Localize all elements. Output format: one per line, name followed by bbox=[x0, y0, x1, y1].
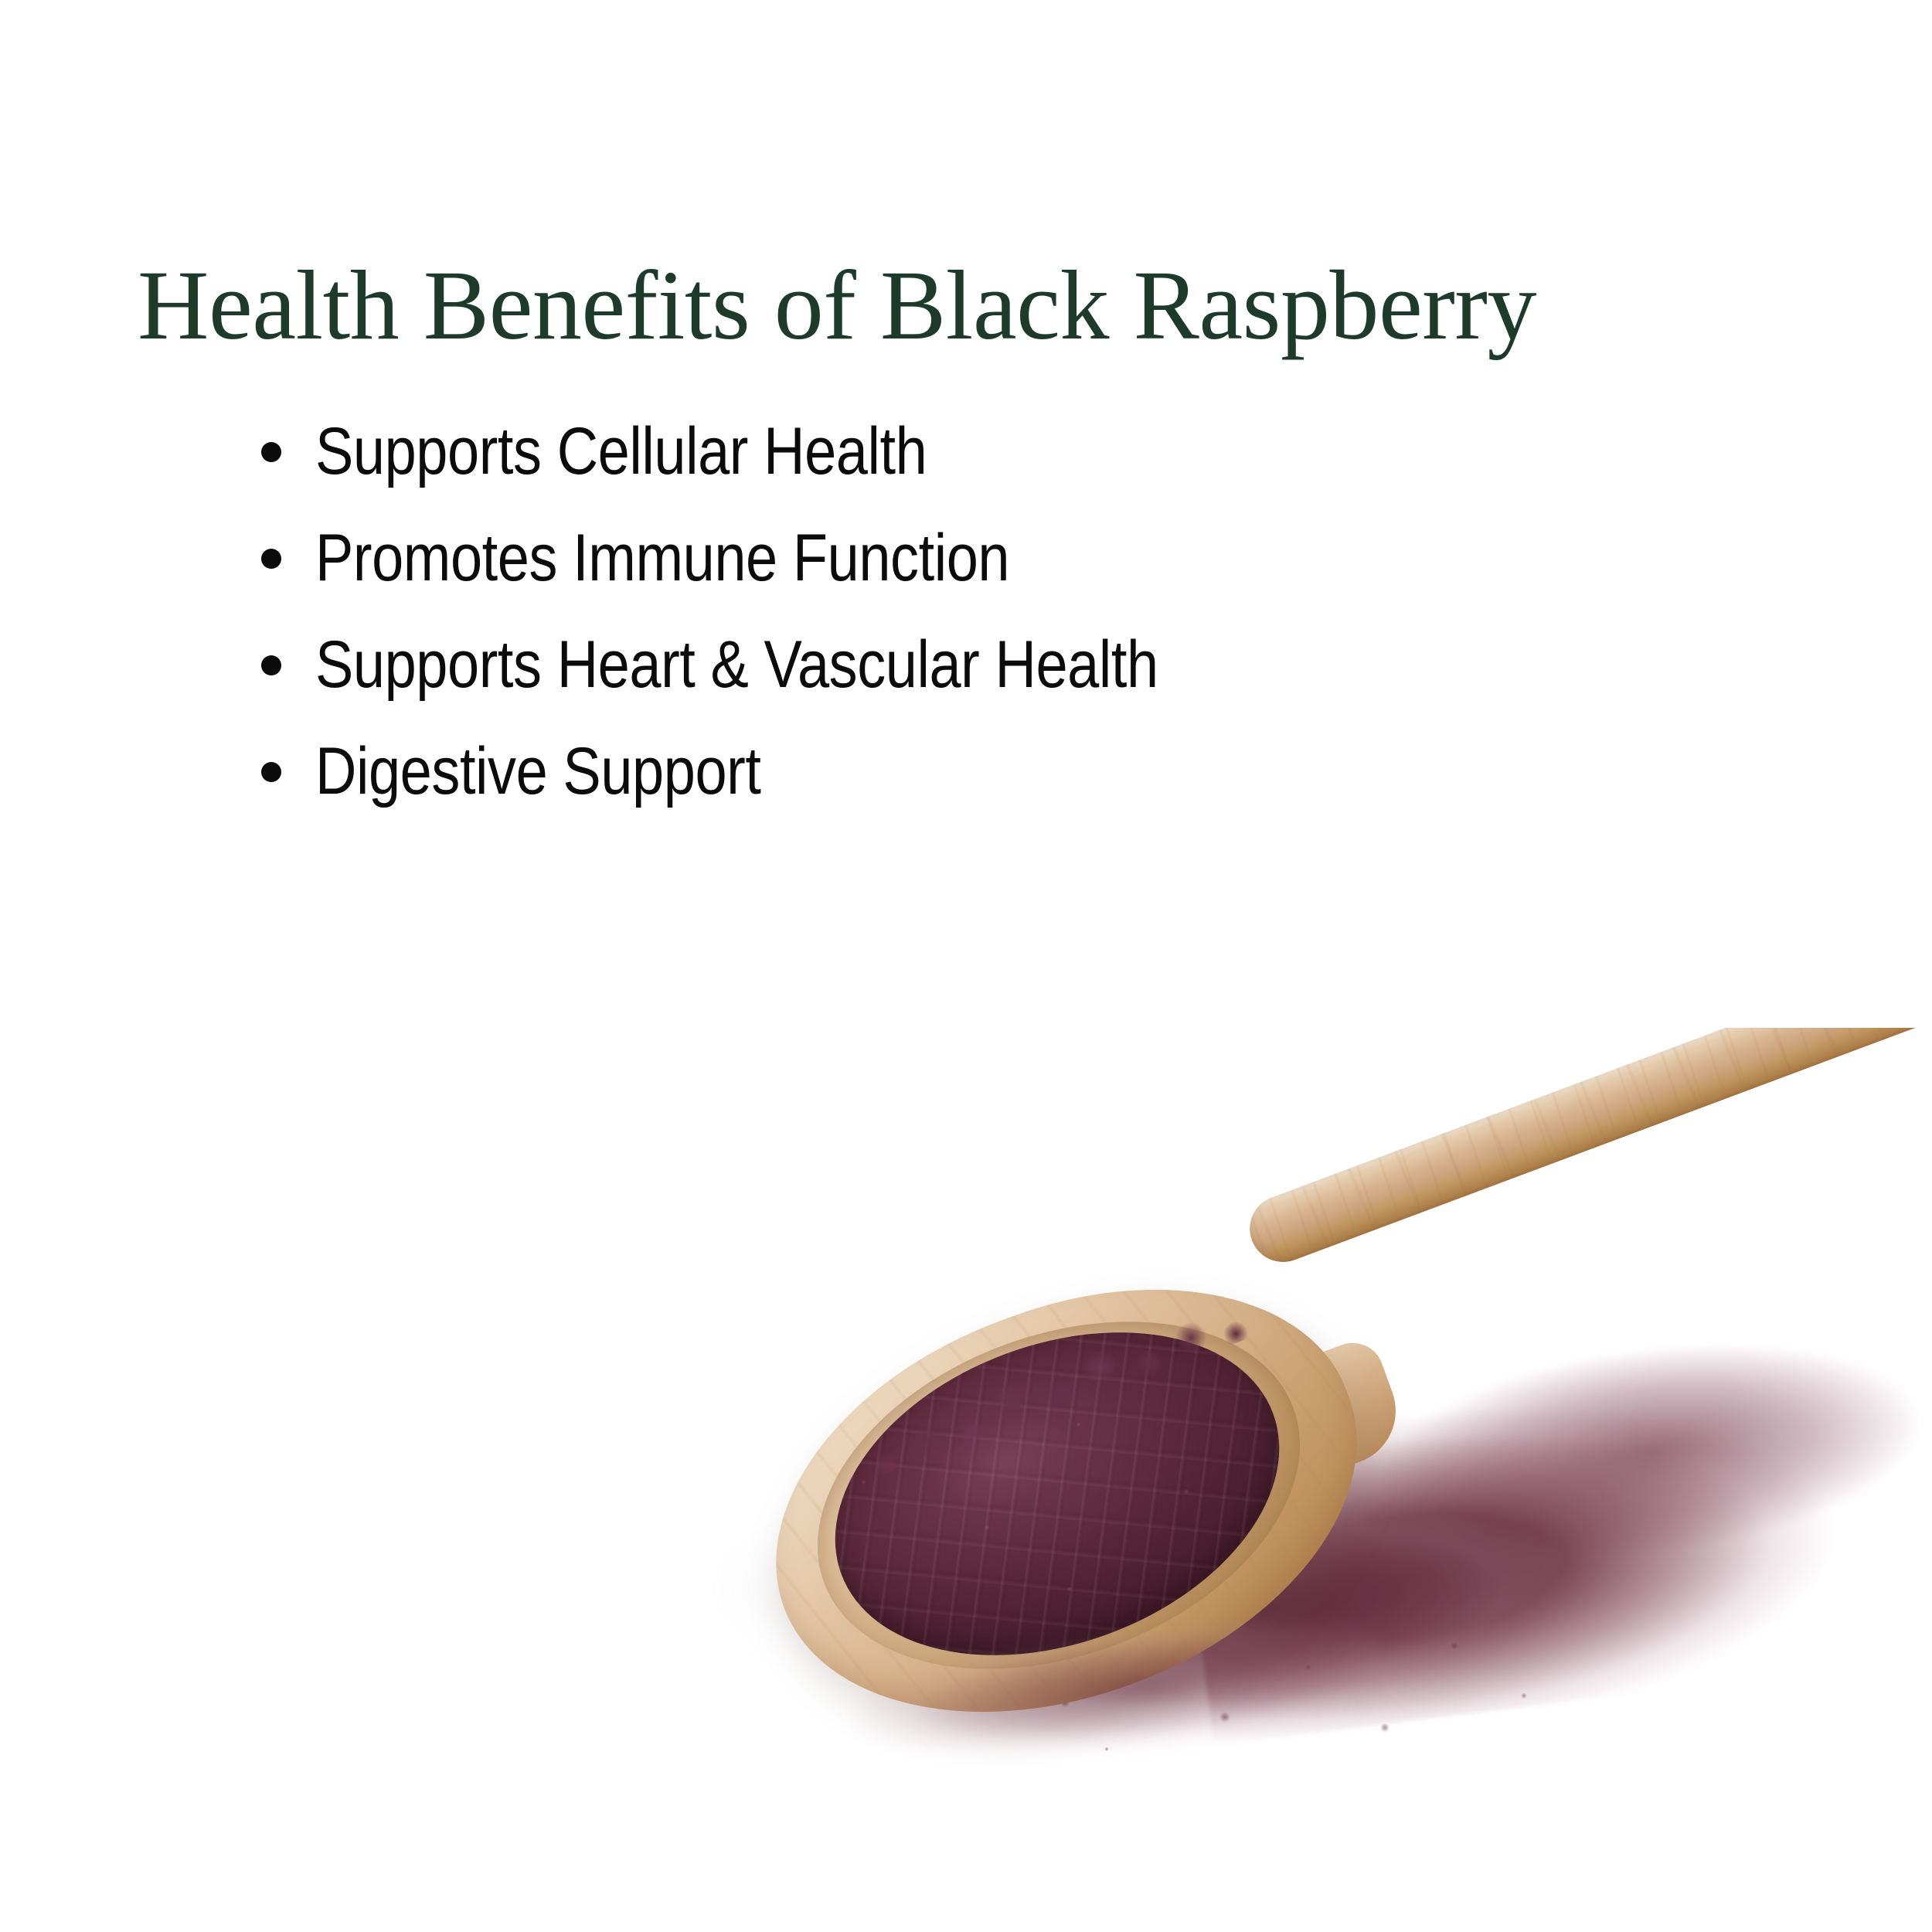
benefit-label: Digestive Support bbox=[315, 730, 760, 813]
spoon-handle bbox=[1240, 1028, 1932, 1271]
list-item: Supports Heart & Vascular Health bbox=[255, 623, 1646, 730]
list-item: Supports Cellular Health bbox=[255, 410, 1646, 516]
benefit-label: Promotes Immune Function bbox=[315, 516, 1009, 600]
list-item: Promotes Immune Function bbox=[255, 516, 1646, 623]
benefit-label: Supports Heart & Vascular Health bbox=[315, 623, 1158, 706]
bullet-icon bbox=[261, 762, 281, 782]
bullet-icon bbox=[261, 655, 281, 675]
benefits-list: Supports Cellular Health Promotes Immune… bbox=[255, 410, 1646, 836]
page-title: Health Benefits of Black Raspberry bbox=[138, 250, 1822, 361]
wood-grain-texture bbox=[1240, 1028, 1932, 1271]
product-photo bbox=[0, 1028, 1932, 1932]
product-benefits-page: Health Benefits of Black Raspberry Suppo… bbox=[0, 0, 1932, 1932]
bullet-icon bbox=[261, 549, 281, 569]
benefit-label: Supports Cellular Health bbox=[315, 410, 927, 493]
list-item: Digestive Support bbox=[255, 730, 1646, 836]
bullet-icon bbox=[261, 442, 281, 462]
